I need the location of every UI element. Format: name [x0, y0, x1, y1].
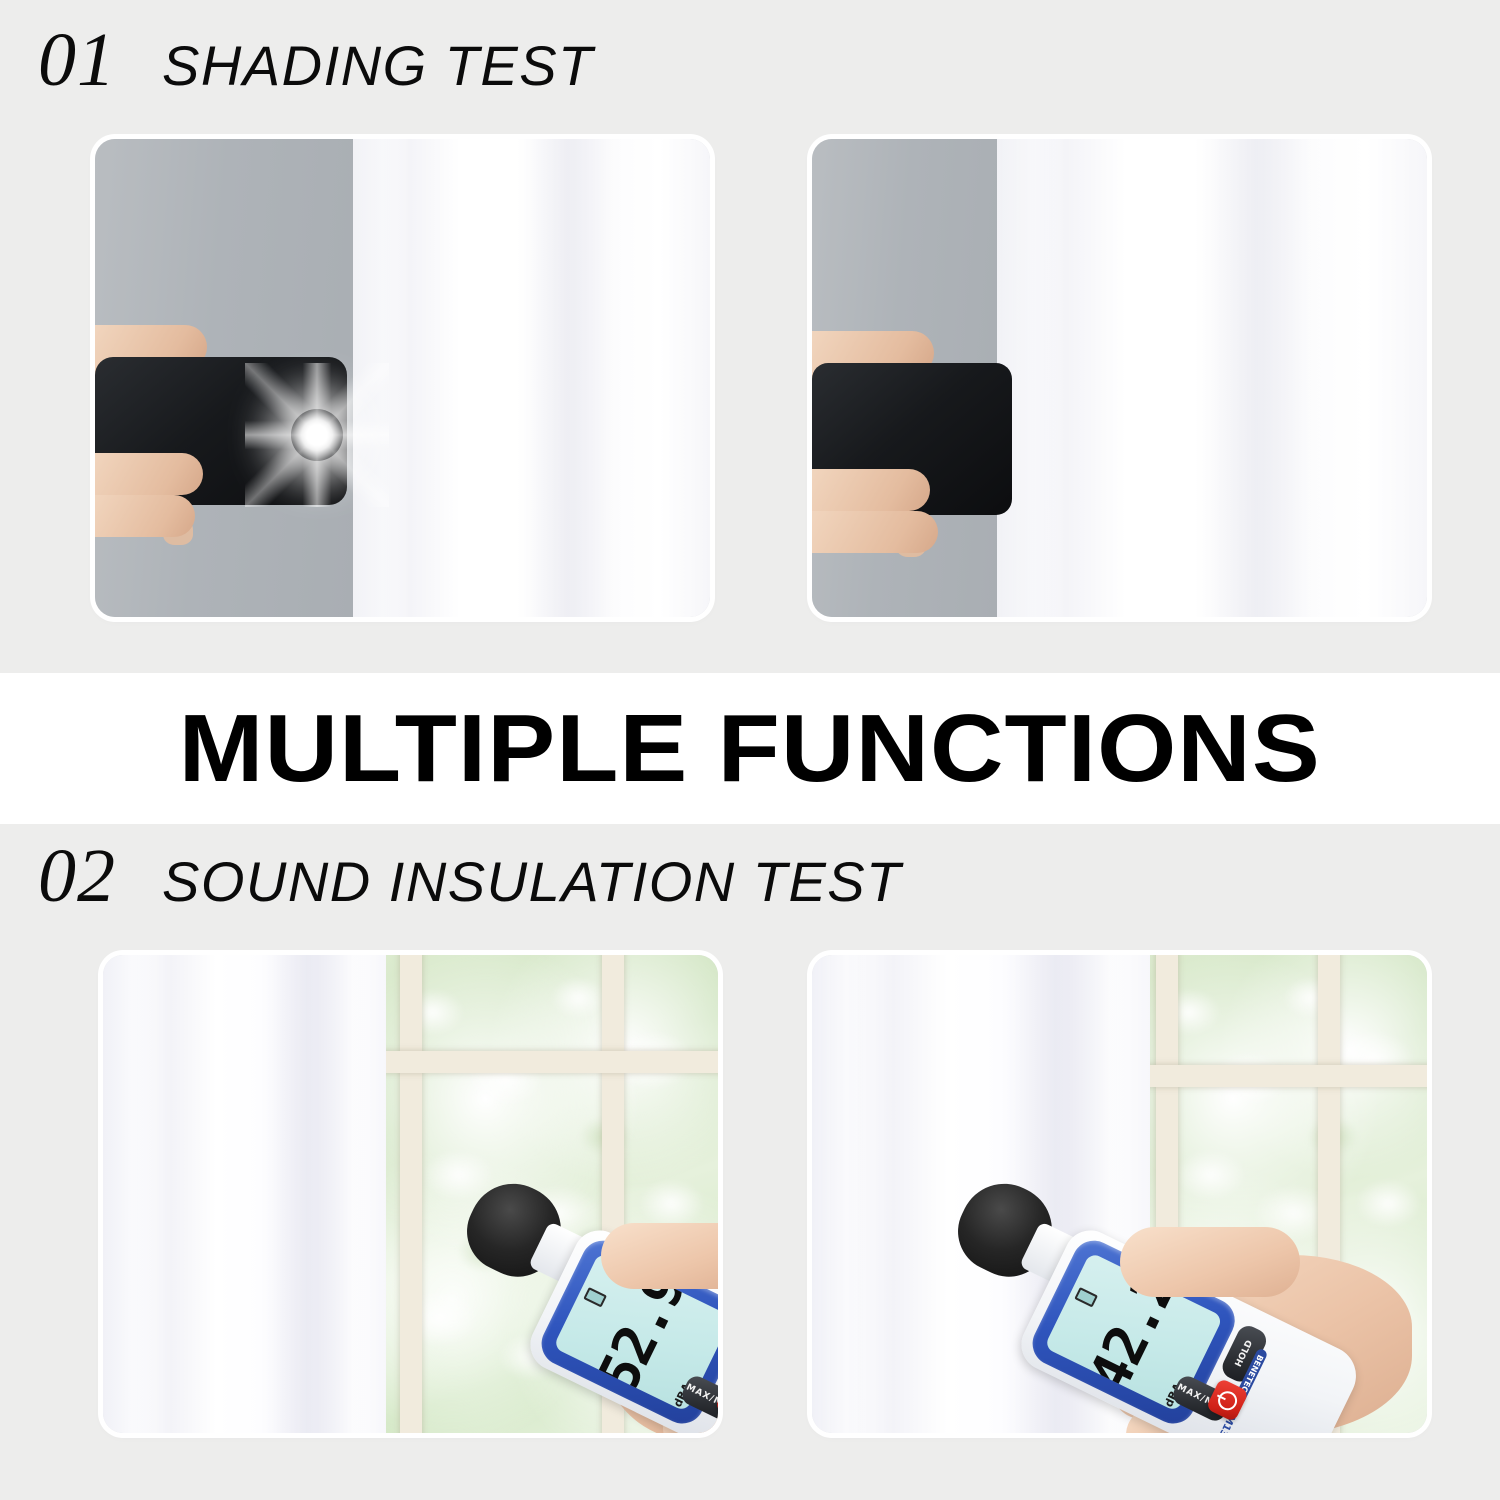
thumb: [601, 1223, 718, 1289]
section-heading-sound: 02 SOUND INSULATION TEST: [38, 838, 902, 914]
battery-icon: [1074, 1287, 1098, 1307]
section-title-shading: SHADING TEST: [162, 38, 594, 94]
product-infographic: 01 SHADING TEST MULTIPLE FUNCT: [0, 0, 1500, 1500]
photo-card-noise-open-window: 52.9 dBA HOLD MAX/MIN: [103, 955, 718, 1433]
finger: [812, 511, 938, 553]
thumb: [1120, 1227, 1300, 1297]
finger: [95, 453, 203, 495]
window-mullion-vertical: [400, 955, 422, 1433]
section-number-02: 02: [38, 838, 116, 914]
white-curtain-panel: [103, 955, 386, 1433]
photo-meter-at-window: 52.9 dBA HOLD MAX/MIN: [103, 955, 718, 1433]
banner-text: MULTIPLE FUNCTIONS: [179, 701, 1321, 797]
window-mullion-horizontal: [376, 1051, 718, 1073]
finger: [95, 495, 195, 537]
power-icon: [1215, 1387, 1240, 1412]
finger: [812, 469, 930, 511]
battery-icon: [583, 1287, 607, 1307]
photo-card-flashlight-blocked: [812, 139, 1427, 617]
photo-flashlight-on-wall: [95, 139, 710, 617]
photo-meter-at-curtain: 42.2 dBA HOLD MAX/MIN BENETECHGM1352Soun…: [812, 955, 1427, 1433]
section-title-sound-insulation: SOUND INSULATION TEST: [162, 854, 902, 910]
white-curtain-panel: [353, 139, 710, 617]
section-heading-shading: 01 SHADING TEST: [38, 22, 594, 98]
window-mullion-horizontal: [1140, 1065, 1427, 1087]
section-number-01: 01: [38, 22, 116, 98]
banner-multiple-functions: MULTIPLE FUNCTIONS: [0, 673, 1500, 824]
photo-flashlight-behind-curtain: [812, 139, 1427, 617]
photo-card-noise-behind-curtain: 42.2 dBA HOLD MAX/MIN BENETECHGM1352Soun…: [812, 955, 1427, 1433]
white-curtain-panel: [997, 139, 1428, 617]
photo-card-flashlight-on: [95, 139, 710, 617]
flashlight-beam: [291, 409, 343, 461]
